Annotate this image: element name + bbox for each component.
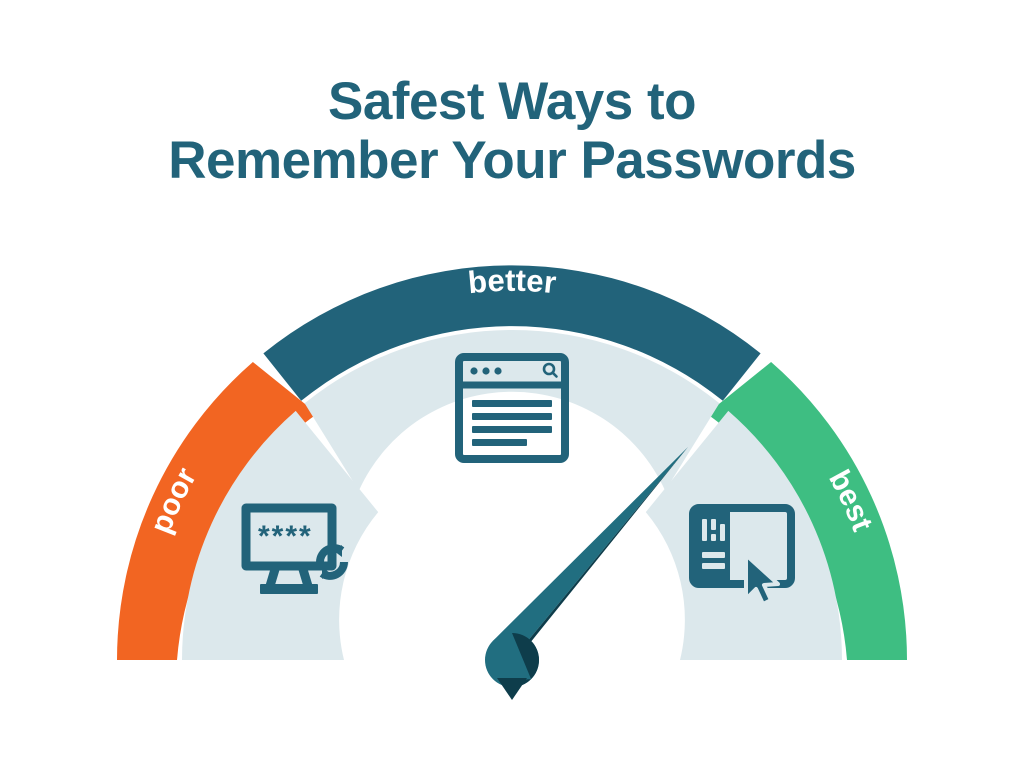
browser-content-lines [472,400,552,446]
gauge-svg: poor better best **** [0,0,1024,765]
gauge-chart: poor better best **** [0,0,1024,765]
gauge-needle[interactable] [485,447,688,700]
svg-text:****: **** [258,520,313,553]
gauge-needle-light-face [493,447,688,660]
gauge-label-better: better [466,263,557,300]
monitor-password-dots: **** [258,520,313,553]
monitor-stand-base [260,584,318,594]
browser-dots-icon [470,367,501,374]
infographic-root: Safest Ways to Remember Your Passwords [0,0,1024,765]
gauge-needle-tail [497,678,527,700]
